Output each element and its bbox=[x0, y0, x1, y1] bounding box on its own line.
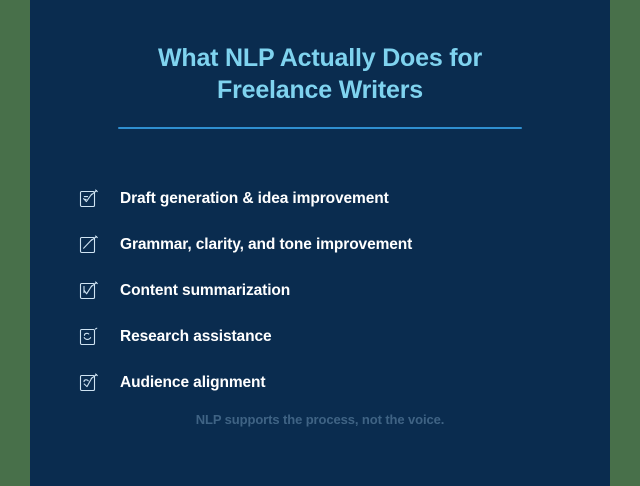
title-divider bbox=[118, 127, 522, 129]
list-item: Research assistance bbox=[78, 314, 578, 360]
list-item: Content summarization bbox=[78, 268, 578, 314]
infographic-canvas: What NLP Actually Does for Freelance Wri… bbox=[0, 0, 640, 486]
feature-list: Draft generation & idea improvement Gram… bbox=[78, 176, 578, 406]
list-item: Grammar, clarity, and tone improvement bbox=[78, 222, 578, 268]
left-green-margin bbox=[0, 0, 30, 486]
footer-note: NLP supports the process, not the voice. bbox=[30, 412, 610, 427]
checkbox-pen-icon bbox=[78, 188, 100, 210]
list-item: Draft generation & idea improvement bbox=[78, 176, 578, 222]
title-line-2: Freelance Writers bbox=[30, 74, 610, 106]
checkbox-pen-icon bbox=[78, 234, 100, 256]
content-card: What NLP Actually Does for Freelance Wri… bbox=[30, 0, 610, 486]
list-item-label: Audience alignment bbox=[120, 374, 265, 392]
checkbox-pen-icon bbox=[78, 372, 100, 394]
list-item-label: Draft generation & idea improvement bbox=[120, 190, 389, 208]
title-line-1: What NLP Actually Does for bbox=[30, 42, 610, 74]
list-item: Audience alignment bbox=[78, 360, 578, 406]
list-item-label: Research assistance bbox=[120, 328, 271, 346]
page-title: What NLP Actually Does for Freelance Wri… bbox=[30, 42, 610, 106]
checkbox-pen-icon bbox=[78, 280, 100, 302]
list-item-label: Grammar, clarity, and tone improvement bbox=[120, 236, 412, 254]
right-green-margin bbox=[610, 0, 640, 486]
list-item-label: Content summarization bbox=[120, 282, 290, 300]
checkbox-pen-icon bbox=[78, 326, 100, 348]
